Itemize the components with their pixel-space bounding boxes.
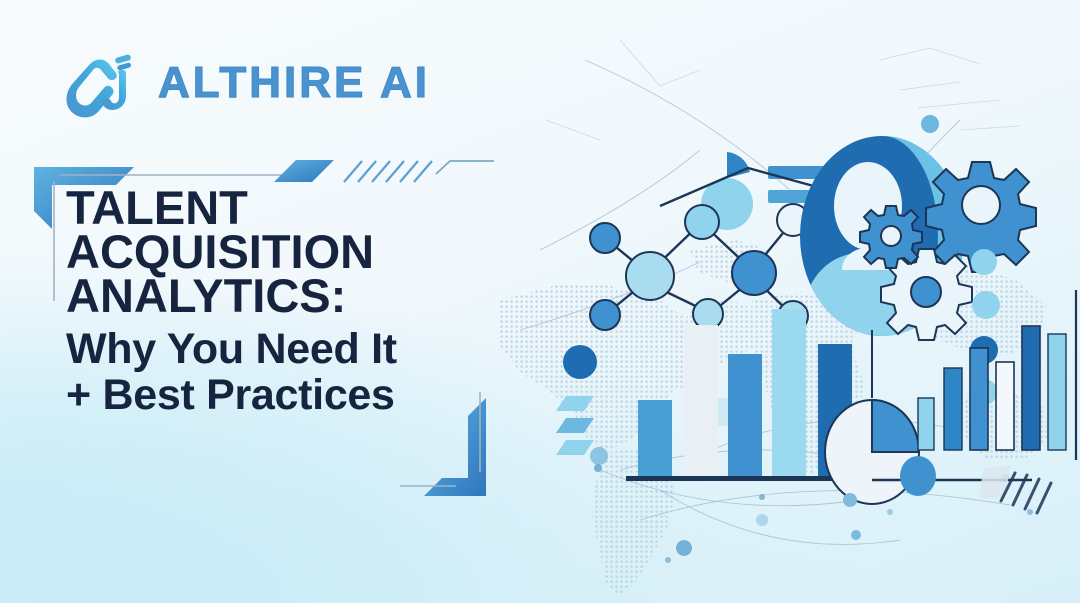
- headline-line-3: ANALYTICS:: [66, 274, 496, 318]
- brand-logo[interactable]: ALTHIRE AI: [60, 46, 430, 120]
- althire-monogram-icon: [60, 46, 144, 120]
- analytics-illustration: [520, 80, 1080, 550]
- brand-wordmark: ALTHIRE AI: [158, 61, 430, 105]
- headline-line-2: ACQUISITION: [66, 230, 496, 274]
- headline-line-4: Why You Need It: [66, 329, 496, 369]
- headline-block: TALENT ACQUISITION ANALYTICS: Why You Ne…: [66, 186, 496, 415]
- stripe-marker-icon: [556, 345, 597, 455]
- headline-line-1: TALENT: [66, 186, 496, 230]
- gear-small-icon: [860, 206, 922, 268]
- headline-line-5: + Best Practices: [66, 375, 496, 415]
- banner-root: ALTHIRE AI TALENT ACQUIS: [0, 0, 1080, 603]
